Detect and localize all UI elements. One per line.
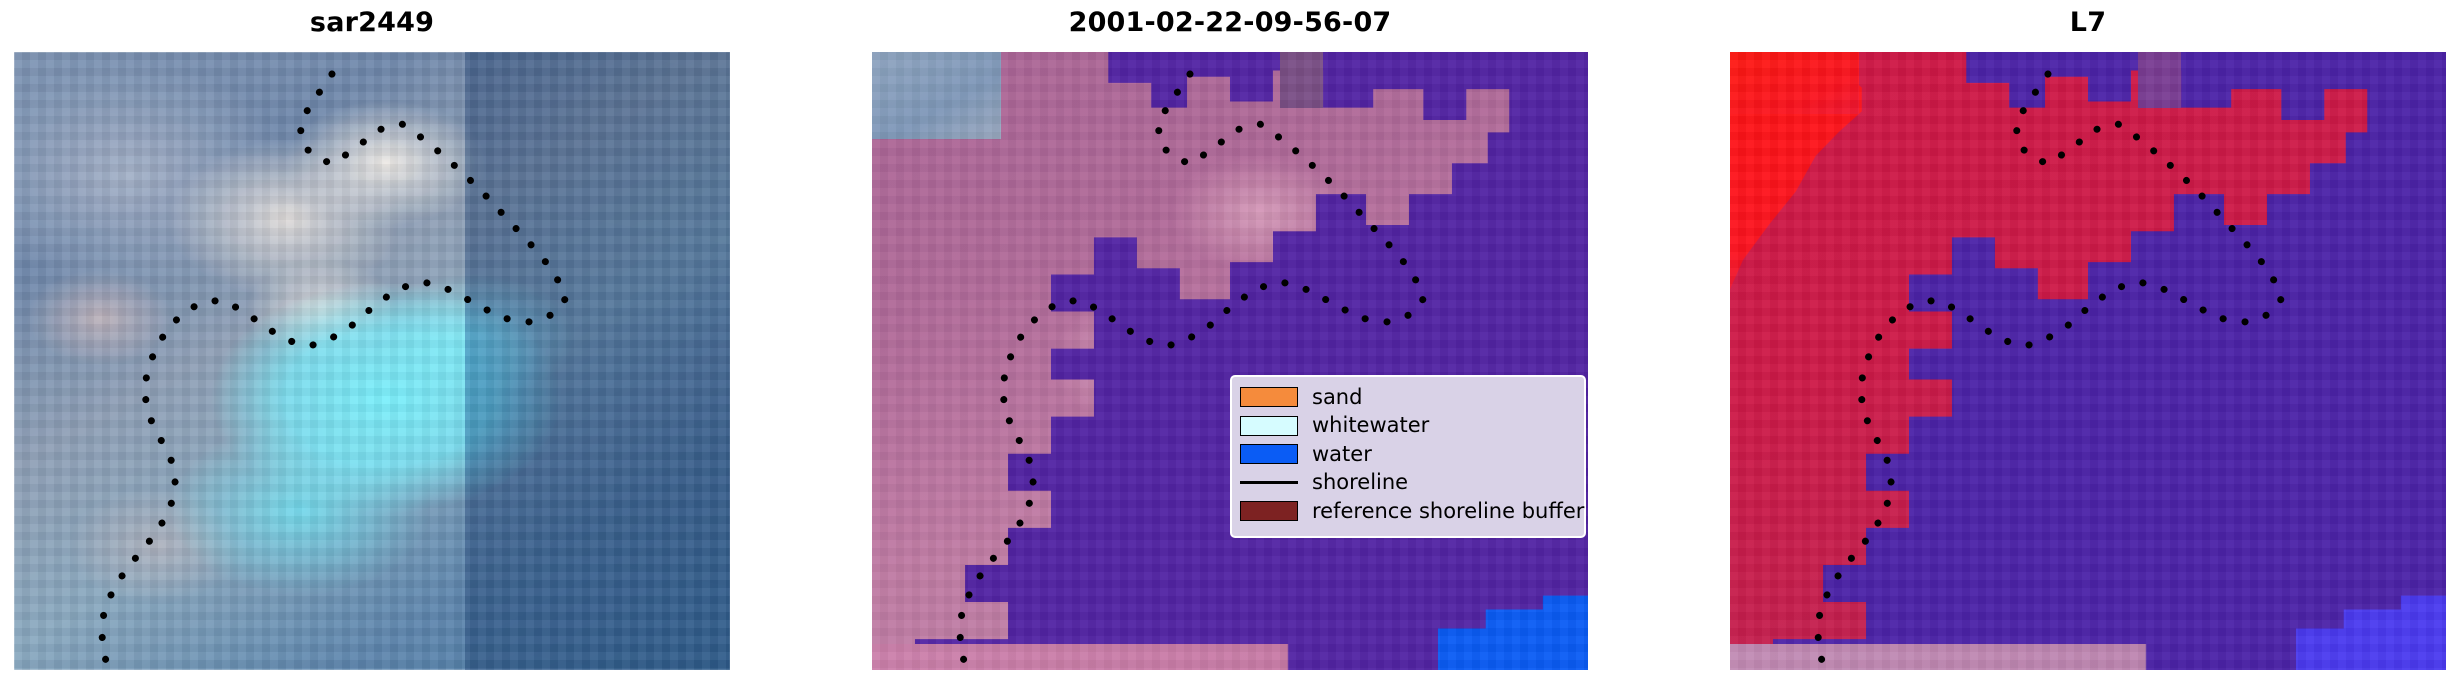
legend-item-whitewater: whitewater	[1240, 412, 1574, 441]
legend-label-shoreline: shoreline	[1312, 472, 1408, 493]
legend-label-sand: sand	[1312, 387, 1362, 408]
legend-item-sand: sand	[1240, 383, 1574, 412]
legend-label-water: water	[1312, 444, 1372, 465]
panel-title-1: sar2449	[14, 6, 730, 40]
pixel-grid-texture	[872, 52, 1588, 670]
reference-shoreline-buffer-color-swatch	[1240, 501, 1298, 521]
sand-color-swatch	[1240, 387, 1298, 407]
panel-2001-02-22-09-56-07[interactable]	[872, 52, 1588, 670]
panel-sar2449[interactable]	[14, 52, 730, 670]
legend-item-water: water	[1240, 440, 1574, 469]
panel-l7[interactable]	[1730, 52, 2446, 670]
water-color-swatch	[1240, 444, 1298, 464]
panel-title-3: L7	[1730, 6, 2446, 40]
panel-title-2: 2001-02-22-09-56-07	[872, 6, 1588, 40]
pixel-grid-texture	[14, 52, 730, 670]
figure-canvas: sar2449 2001-02-22-09-56-07 L7	[0, 0, 2460, 699]
legend-item-reference-shoreline-buffer: reference shoreline buffer	[1240, 497, 1574, 526]
legend-box[interactable]: sand whitewater water shoreline referenc…	[1230, 375, 1586, 538]
legend-label-whitewater: whitewater	[1312, 415, 1429, 436]
whitewater-color-swatch	[1240, 416, 1298, 436]
legend-item-shoreline: shoreline	[1240, 469, 1574, 498]
shoreline-line-swatch	[1240, 473, 1298, 493]
legend-label-reference-shoreline-buffer: reference shoreline buffer	[1312, 501, 1584, 522]
pixel-grid-texture	[1730, 52, 2446, 670]
